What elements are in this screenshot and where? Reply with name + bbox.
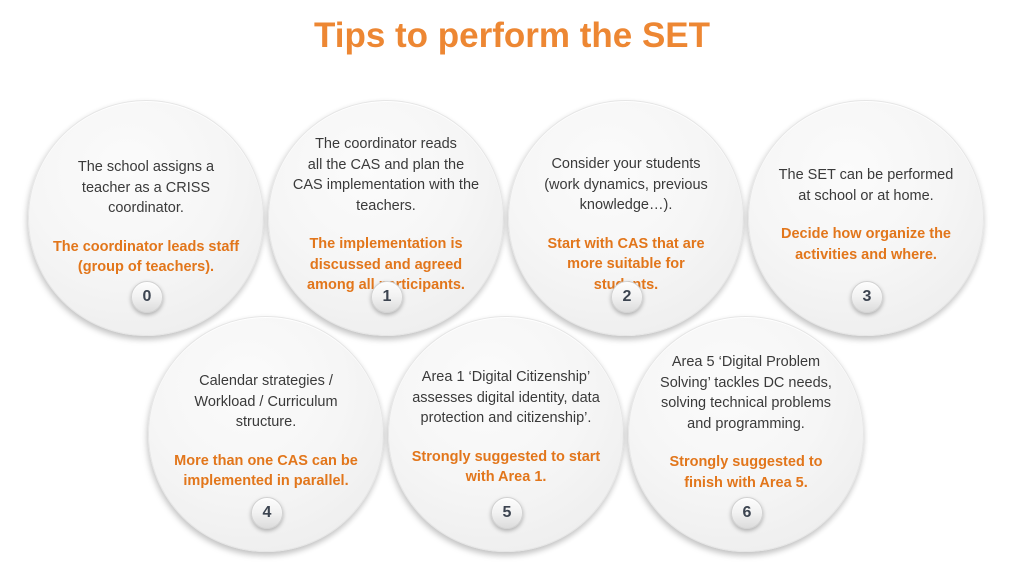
- tip-bold-line: Start with CAS that are: [521, 234, 731, 255]
- tip-bold-line: (group of teachers).: [41, 257, 251, 278]
- tip-text-2: Consider your students (work dynamics, p…: [521, 154, 731, 295]
- tip-number-badge-4: 4: [251, 497, 283, 529]
- tip-bold-line: more suitable for: [521, 254, 731, 275]
- tip-bold-line: Decide how organize the: [761, 224, 971, 245]
- tip-number-badge-6: 6: [731, 497, 763, 529]
- tip-plain-line: structure.: [161, 412, 371, 433]
- tip-bold-line: The coordinator leads staff: [41, 237, 251, 258]
- tip-text-4: Calendar strategies / Workload / Curricu…: [161, 371, 371, 492]
- tip-number-badge-5: 5: [491, 497, 523, 529]
- tip-plain-line: solving technical problems: [641, 393, 851, 414]
- tip-plain-line: The coordinator reads: [281, 134, 491, 155]
- tip-plain-line: Workload / Curriculum: [161, 392, 371, 413]
- tip-number-badge-0: 0: [131, 281, 163, 313]
- text-spacer: [161, 433, 371, 451]
- tip-plain-line: Solving’ tackles DC needs,: [641, 373, 851, 394]
- tip-number-badge-2: 2: [611, 281, 643, 313]
- slide-canvas: Tips to perform the SET The school assig…: [0, 0, 1024, 576]
- tip-plain-line: CAS implementation with the: [281, 175, 491, 196]
- tip-bold-line: discussed and agreed: [281, 255, 491, 276]
- tip-plain-line: teacher as a CRISS: [41, 178, 251, 199]
- tip-text-0: The school assigns a teacher as a CRISS …: [41, 157, 251, 278]
- tip-plain-line: The school assigns a: [41, 157, 251, 178]
- tip-plain-line: assesses digital identity, data: [401, 388, 611, 409]
- tip-text-3: The SET can be performed at school or at…: [761, 165, 971, 265]
- tip-plain-line: knowledge…).: [521, 195, 731, 216]
- tip-plain-line: Area 1 ‘Digital Citizenship’: [401, 367, 611, 388]
- tip-text-6: Area 5 ‘Digital Problem Solving’ tackles…: [641, 352, 851, 493]
- tip-bold-line: Strongly suggested to start: [401, 447, 611, 468]
- tip-bold-line: finish with Area 5.: [641, 473, 851, 494]
- tip-plain-line: Consider your students: [521, 154, 731, 175]
- tip-plain-line: all the CAS and plan the: [281, 155, 491, 176]
- text-spacer: [41, 219, 251, 237]
- tip-bubble-1[interactable]: The coordinator reads all the CAS and pl…: [268, 100, 504, 336]
- tip-plain-line: protection and citizenship’.: [401, 408, 611, 429]
- tip-plain-line: and programming.: [641, 414, 851, 435]
- tip-text-1: The coordinator reads all the CAS and pl…: [281, 134, 491, 296]
- text-spacer: [761, 206, 971, 224]
- tip-bold-line: implemented in parallel.: [161, 471, 371, 492]
- tip-text-5: Area 1 ‘Digital Citizenship’ assesses di…: [401, 367, 611, 488]
- tip-plain-line: coordinator.: [41, 198, 251, 219]
- tip-plain-line: (work dynamics, previous: [521, 175, 731, 196]
- tip-bubble-0[interactable]: The school assigns a teacher as a CRISS …: [28, 100, 264, 336]
- text-spacer: [281, 216, 491, 234]
- tip-bubble-6[interactable]: Area 5 ‘Digital Problem Solving’ tackles…: [628, 316, 864, 552]
- text-spacer: [401, 429, 611, 447]
- tip-plain-line: teachers.: [281, 196, 491, 217]
- text-spacer: [641, 434, 851, 452]
- tip-bold-line: More than one CAS can be: [161, 451, 371, 472]
- text-spacer: [521, 216, 731, 234]
- tip-number-badge-3: 3: [851, 281, 883, 313]
- tip-plain-line: Calendar strategies /: [161, 371, 371, 392]
- tip-plain-line: at school or at home.: [761, 186, 971, 207]
- tip-bold-line: with Area 1.: [401, 467, 611, 488]
- tip-bold-line: The implementation is: [281, 234, 491, 255]
- tip-bubble-4[interactable]: Calendar strategies / Workload / Curricu…: [148, 316, 384, 552]
- page-title: Tips to perform the SET: [0, 14, 1024, 58]
- tip-plain-line: The SET can be performed: [761, 165, 971, 186]
- tip-bold-line: Strongly suggested to: [641, 452, 851, 473]
- tip-plain-line: Area 5 ‘Digital Problem: [641, 352, 851, 373]
- tip-number-badge-1: 1: [371, 281, 403, 313]
- tip-bubble-2[interactable]: Consider your students (work dynamics, p…: [508, 100, 744, 336]
- tip-bubble-3[interactable]: The SET can be performed at school or at…: [748, 100, 984, 336]
- tip-bubble-5[interactable]: Area 1 ‘Digital Citizenship’ assesses di…: [388, 316, 624, 552]
- tip-bold-line: activities and where.: [761, 245, 971, 266]
